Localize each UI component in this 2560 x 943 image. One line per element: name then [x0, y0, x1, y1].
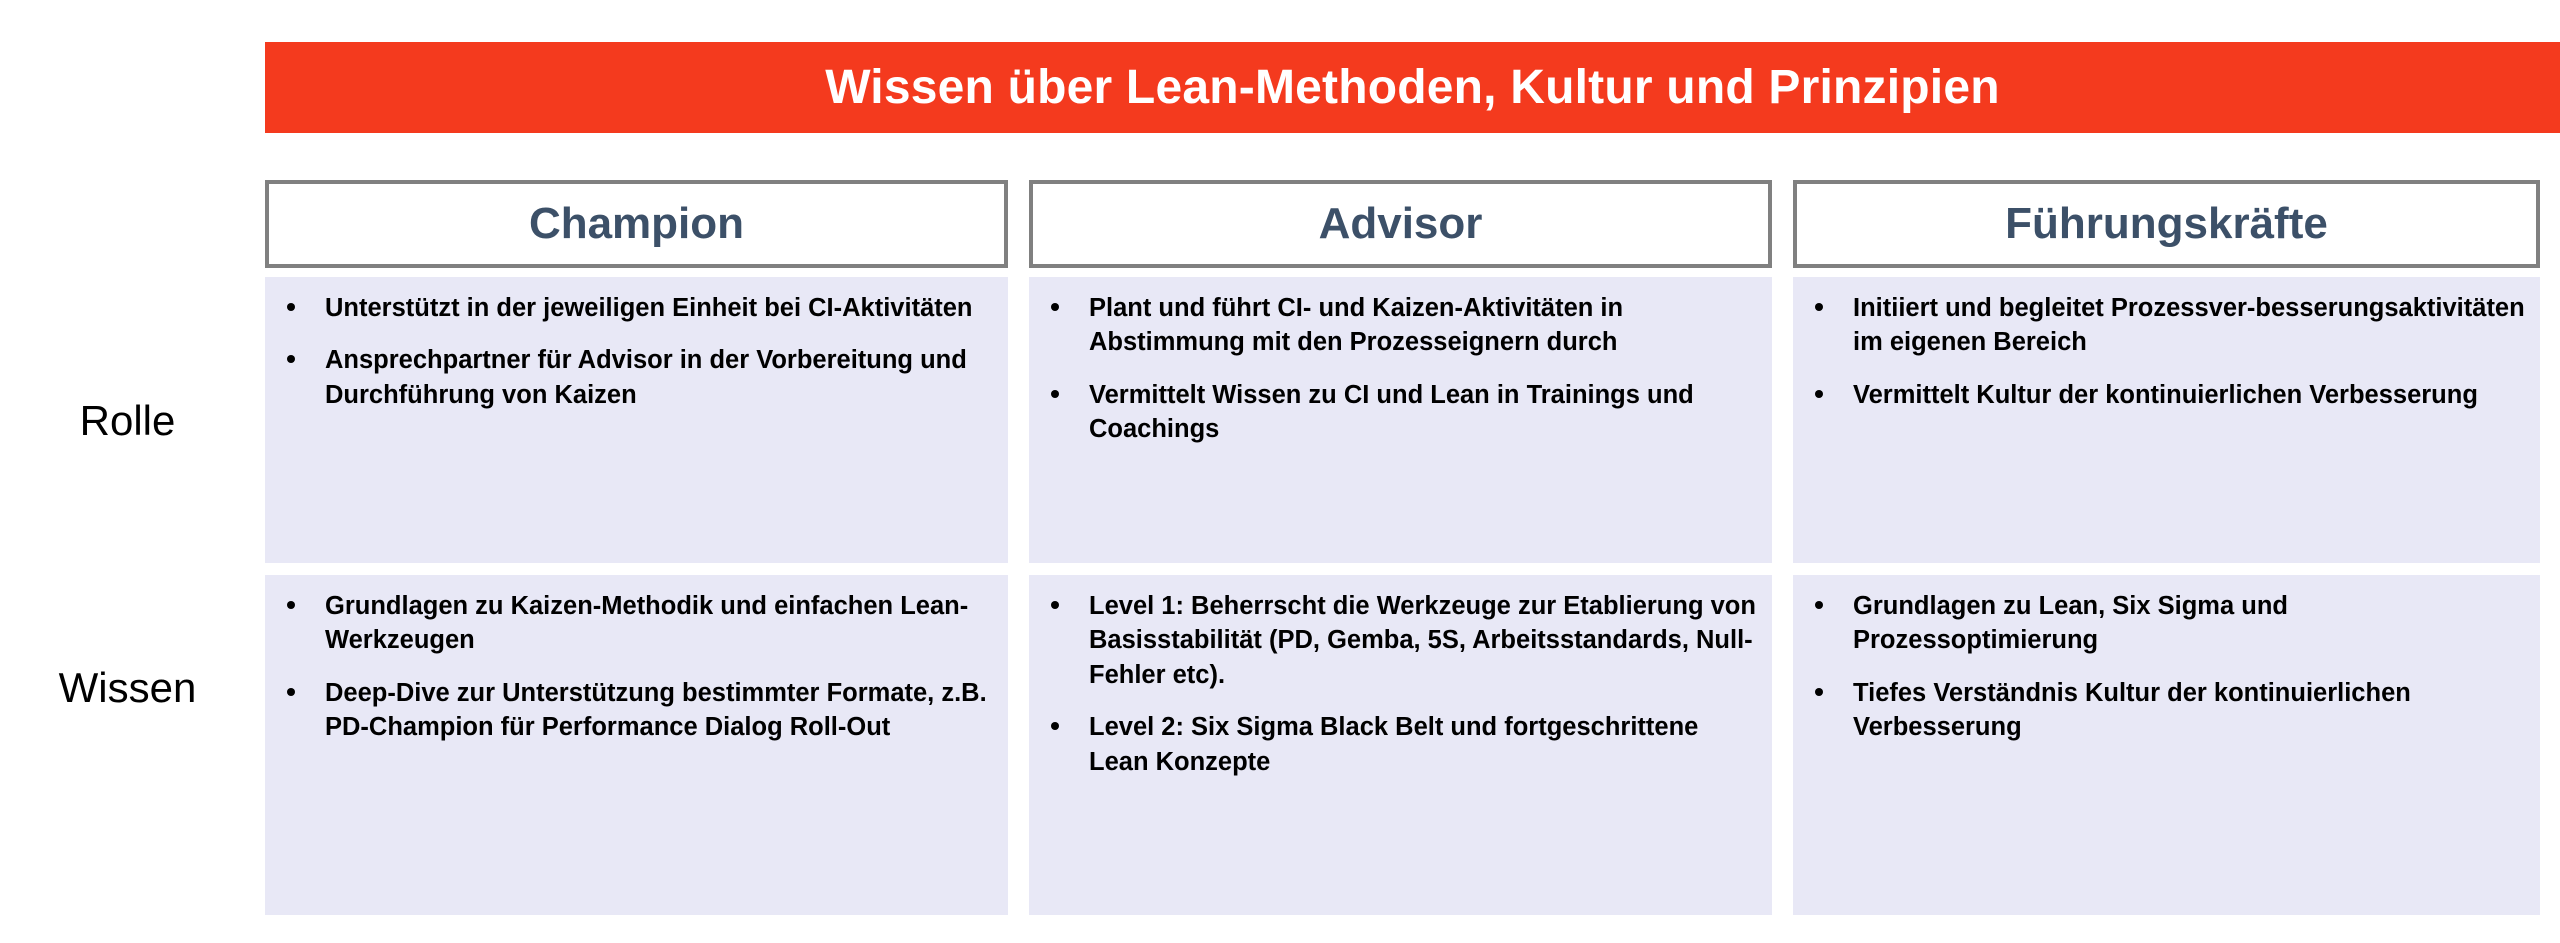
bullet-item: Level 2: Six Sigma Black Belt und fortge…: [1029, 710, 1760, 779]
bullet-list: Initiiert und begleitet Prozessver-besse…: [1793, 291, 2528, 412]
bullet-list: Grundlagen zu Kaizen-Methodik und einfac…: [265, 589, 996, 745]
cell-wissen-advisor: Level 1: Beherrscht die Werkzeuge zur Et…: [1029, 575, 1772, 915]
bullet-item-text: Ansprechpartner für Advisor in der Vorbe…: [325, 346, 967, 408]
bullet-item: Deep-Dive zur Unterstützung bestimmter F…: [265, 676, 996, 745]
bullet-item: Initiiert und begleitet Prozessver-besse…: [1793, 291, 2528, 360]
bullet-dot-icon: [287, 355, 295, 363]
bullet-dot-icon: [1815, 688, 1823, 696]
bullet-dot-icon: [1051, 390, 1059, 398]
bullet-item: Vermittelt Kultur der kontinuierlichen V…: [1793, 378, 2528, 412]
column-header-fuehrungskraefte-label: Führungskräfte: [2005, 202, 2328, 246]
bullet-dot-icon: [1051, 601, 1059, 609]
bullet-item-text: Vermittelt Wissen zu CI und Lean in Trai…: [1089, 381, 1694, 443]
bullet-item: Ansprechpartner für Advisor in der Vorbe…: [265, 343, 996, 412]
bullet-dot-icon: [1815, 601, 1823, 609]
column-header-advisor-label: Advisor: [1319, 202, 1483, 246]
row-label-wissen: Wissen: [0, 667, 255, 709]
bullet-item-text: Level 1: Beherrscht die Werkzeuge zur Et…: [1089, 592, 1756, 689]
bullet-item: Tiefes Verständnis Kultur der kontinuier…: [1793, 676, 2528, 745]
row-label-rolle: Rolle: [0, 400, 255, 442]
bullet-dot-icon: [1051, 722, 1059, 730]
bullet-item: Vermittelt Wissen zu CI und Lean in Trai…: [1029, 378, 1760, 447]
bullet-item-text: Plant und führt CI- und Kaizen-Aktivität…: [1089, 294, 1623, 356]
bullet-item: Unterstützt in der jeweiligen Einheit be…: [265, 291, 996, 325]
bullet-item-text: Unterstützt in der jeweiligen Einheit be…: [325, 294, 973, 322]
cell-rolle-advisor: Plant und führt CI- und Kaizen-Aktivität…: [1029, 277, 1772, 563]
bullet-list: Unterstützt in der jeweiligen Einheit be…: [265, 291, 996, 412]
bullet-item: Grundlagen zu Kaizen-Methodik und einfac…: [265, 589, 996, 658]
bullet-item: Plant und führt CI- und Kaizen-Aktivität…: [1029, 291, 1760, 360]
cell-wissen-champion: Grundlagen zu Kaizen-Methodik und einfac…: [265, 575, 1008, 915]
bullet-list: Plant und führt CI- und Kaizen-Aktivität…: [1029, 291, 1760, 447]
page-title: Wissen über Lean-Methoden, Kultur und Pr…: [825, 64, 2000, 112]
bullet-item-text: Grundlagen zu Lean, Six Sigma und Prozes…: [1853, 592, 2288, 654]
bullet-dot-icon: [1815, 303, 1823, 311]
bullet-item: Level 1: Beherrscht die Werkzeuge zur Et…: [1029, 589, 1760, 692]
bullet-dot-icon: [287, 601, 295, 609]
cell-wissen-fuehrungskraefte: Grundlagen zu Lean, Six Sigma und Prozes…: [1793, 575, 2540, 915]
bullet-item-text: Level 2: Six Sigma Black Belt und fortge…: [1089, 713, 1698, 775]
column-header-champion: Champion: [265, 180, 1008, 268]
column-header-champion-label: Champion: [529, 202, 744, 246]
bullet-item-text: Initiiert und begleitet Prozessver-besse…: [1853, 294, 2525, 356]
cell-rolle-fuehrungskraefte: Initiiert und begleitet Prozessver-besse…: [1793, 277, 2540, 563]
bullet-item-text: Tiefes Verständnis Kultur der kontinuier…: [1853, 679, 2411, 741]
bullet-item-text: Grundlagen zu Kaizen-Methodik und einfac…: [325, 592, 968, 654]
slide-canvas: Wissen über Lean-Methoden, Kultur und Pr…: [0, 0, 2560, 943]
bullet-list: Level 1: Beherrscht die Werkzeuge zur Et…: [1029, 589, 1760, 779]
bullet-dot-icon: [287, 303, 295, 311]
bullet-item-text: Vermittelt Kultur der kontinuierlichen V…: [1853, 381, 2478, 409]
bullet-dot-icon: [287, 688, 295, 696]
bullet-item: Grundlagen zu Lean, Six Sigma und Prozes…: [1793, 589, 2528, 658]
bullet-dot-icon: [1051, 303, 1059, 311]
bullet-dot-icon: [1815, 390, 1823, 398]
cell-rolle-champion: Unterstützt in der jeweiligen Einheit be…: [265, 277, 1008, 563]
bullet-item-text: Deep-Dive zur Unterstützung bestimmter F…: [325, 679, 987, 741]
column-header-advisor: Advisor: [1029, 180, 1772, 268]
title-banner: Wissen über Lean-Methoden, Kultur und Pr…: [265, 42, 2560, 133]
column-header-fuehrungskraefte: Führungskräfte: [1793, 180, 2540, 268]
bullet-list: Grundlagen zu Lean, Six Sigma und Prozes…: [1793, 589, 2528, 745]
